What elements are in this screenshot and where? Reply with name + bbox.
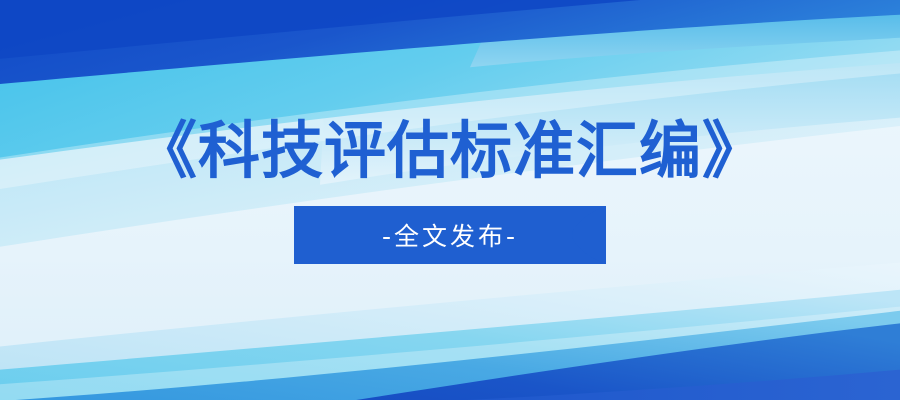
ribbon-badge: -全文发布- — [294, 206, 606, 264]
ribbon-label: -全文发布- — [294, 206, 606, 264]
title-block: 《科技评估标准汇编》 — [135, 118, 765, 183]
bottom-white-strip — [0, 400, 900, 420]
banner-content: 《科技评估标准汇编》 -全文发布- — [0, 0, 900, 420]
promo-banner: 《科技评估标准汇编》 -全文发布- — [0, 0, 900, 420]
page-title: 《科技评估标准汇编》 — [135, 118, 765, 183]
